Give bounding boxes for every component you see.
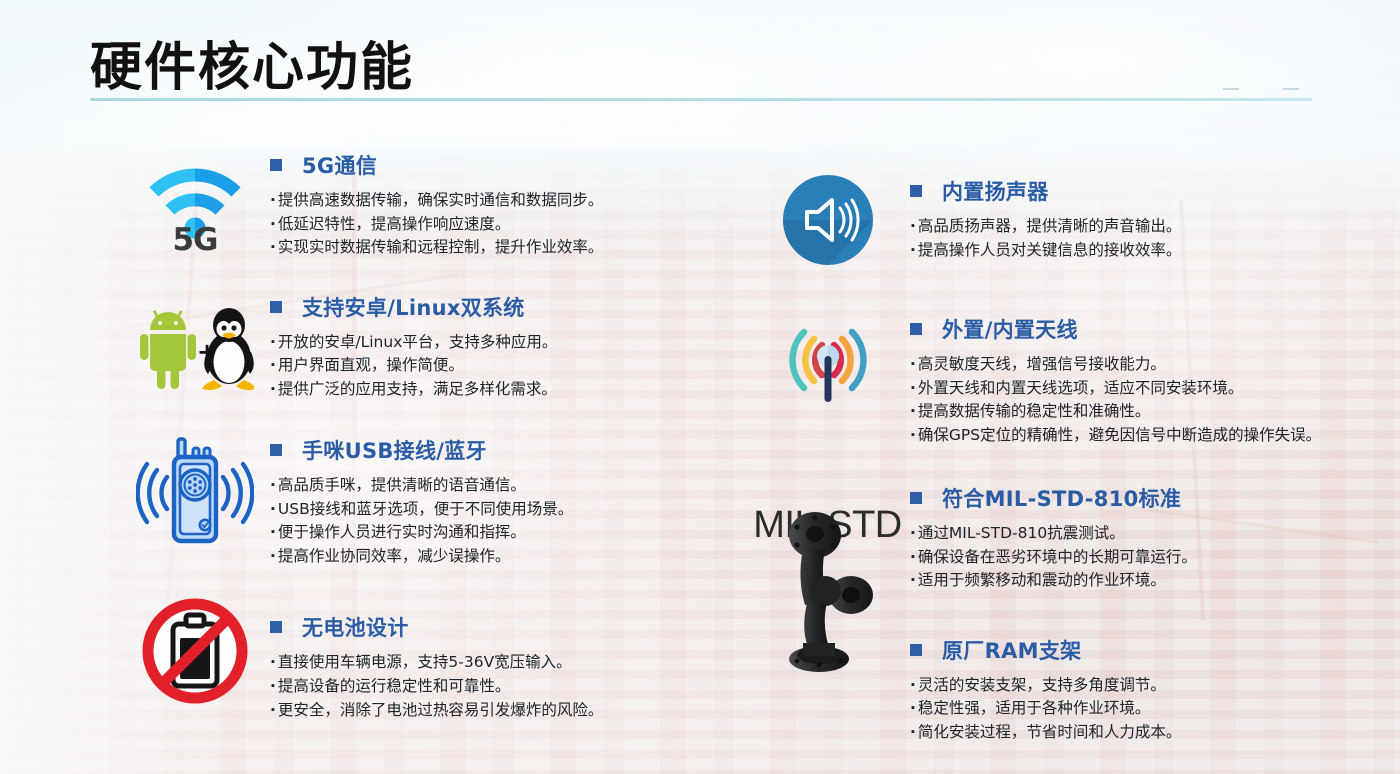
- feature-heading-row: 外置/内置天线: [910, 314, 1365, 344]
- list-item: USB接线和蓝牙选项，便于不同使用场景。: [270, 498, 680, 522]
- feature-icon-slot: [745, 150, 910, 268]
- list-item: 确保设备在恶劣环境中的长期可靠运行。: [910, 546, 1365, 570]
- list-item: 高灵敏度天线，增强信号接收能力。: [910, 353, 1365, 377]
- slide-header: 硬件核心功能: [0, 0, 1400, 118]
- feature-item-no-battery: 无电池设计 直接使用车辆电源，支持5-36V宽压输入。 提高设备的运行稳定性和可…: [120, 596, 680, 722]
- 5g-wifi-icon: 5G: [143, 154, 247, 258]
- bullet-square-icon: [270, 159, 282, 171]
- feature-text-block: 手咪USB接线/蓝牙 高品质手咪，提供清晰的语音通信。 USB接线和蓝牙选项，便…: [270, 435, 680, 568]
- android-linux-icon: +: [136, 294, 254, 398]
- feature-bullet-list: 高灵敏度天线，增强信号接收能力。 外置天线和内置天线选项，适应不同安装环境。 提…: [910, 353, 1365, 447]
- feature-bullet-list: 通过MIL-STD-810抗震测试。 确保设备在恶劣环境中的长期可靠运行。 适用…: [910, 522, 1365, 593]
- list-item: 直接使用车辆电源，支持5-36V宽压输入。: [270, 651, 680, 675]
- bullet-square-icon: [910, 644, 922, 656]
- list-item: 确保GPS定位的精确性，避免因信号中断造成的操作失误。: [910, 424, 1340, 448]
- feature-heading-row: 原厂RAM支架: [910, 635, 1365, 665]
- feature-heading-row: 支持安卓/Linux双系统: [270, 292, 680, 322]
- 5g-icon-label: 5G: [143, 222, 247, 258]
- bullet-square-icon: [270, 301, 282, 313]
- list-item: 开放的安卓/Linux平台，支持多种应用。: [270, 331, 680, 355]
- feature-text-block: 5G通信 提供高速数据传输，确保实时通信和数据同步。 低延迟特性，提高操作响应速…: [270, 150, 680, 260]
- feature-icon-slot: +: [120, 292, 270, 398]
- walkie-talkie-icon: [136, 437, 254, 545]
- feature-text-block: 外置/内置天线 高灵敏度天线，增强信号接收能力。 外置天线和内置天线选项，适应不…: [910, 308, 1365, 447]
- feature-icon-slot: [120, 435, 270, 545]
- list-item: 稳定性强，适用于各种作业环境。: [910, 697, 1365, 721]
- feature-item-5g: 5G 5G通信 提供高速数据传输，确保实时通信和数据同步。 低延迟特性，提高操作…: [120, 150, 680, 260]
- list-item: 低延迟特性，提高操作响应速度。: [270, 213, 680, 237]
- list-item: 提高作业协同效率，减少误操作。: [270, 545, 680, 569]
- speaker-icon: [780, 172, 876, 268]
- bullet-square-icon: [270, 444, 282, 456]
- feature-text-block: 无电池设计 直接使用车辆电源，支持5-36V宽压输入。 提高设备的运行稳定性和可…: [270, 596, 680, 722]
- page-title: 硬件核心功能: [90, 25, 414, 100]
- bullet-square-icon: [910, 492, 922, 504]
- list-item: 外置天线和内置天线选项，适应不同安装环境。: [910, 377, 1365, 401]
- list-item: 灵活的安装支架，支持多角度调节。: [910, 674, 1365, 698]
- list-item: 通过MIL-STD-810抗震测试。: [910, 522, 1365, 546]
- divider-tick: [1283, 88, 1299, 90]
- feature-icon-slot: [120, 596, 270, 706]
- feature-item-dual-os: + 支持安卓/Linux双系统 开放的安卓/Linux平台，支持多种应用。 用户…: [120, 292, 680, 402]
- list-item: 高品质手咪，提供清晰的语音通信。: [270, 474, 680, 498]
- title-divider: [90, 98, 1312, 101]
- feature-title: 支持安卓/Linux双系统: [302, 292, 525, 322]
- feature-bullet-list: 直接使用车辆电源，支持5-36V宽压输入。 提高设备的运行稳定性和可靠性。 更安…: [270, 651, 680, 722]
- android-robot: [140, 309, 196, 388]
- feature-item-handmic: 手咪USB接线/蓝牙 高品质手咪，提供清晰的语音通信。 USB接线和蓝牙选项，便…: [120, 435, 680, 568]
- feature-bullet-list: 高品质手咪，提供清晰的语音通信。 USB接线和蓝牙选项，便于不同使用场景。 便于…: [270, 474, 680, 568]
- feature-icon-slot: [745, 629, 910, 681]
- list-item: 高品质扬声器，提供清晰的声音输出。: [910, 215, 1365, 239]
- feature-title: 5G通信: [302, 150, 377, 180]
- plus-icon: +: [197, 338, 217, 366]
- list-item: 提供广泛的应用支持，满足多样化需求。: [270, 378, 680, 402]
- list-item: 简化安装过程，节省时间和人力成本。: [910, 721, 1365, 745]
- feature-title: 外置/内置天线: [942, 314, 1078, 344]
- feature-title: 手咪USB接线/蓝牙: [302, 435, 487, 465]
- feature-bullet-list: 开放的安卓/Linux平台，支持多种应用。 用户界面直观，操作简便。 提供广泛的…: [270, 331, 680, 402]
- list-item: 提高设备的运行稳定性和可靠性。: [270, 675, 680, 699]
- list-item: 实现实时数据传输和远程控制，提升作业效率。: [270, 236, 680, 260]
- feature-column-right: 内置扬声器 高品质扬声器，提供清晰的声音输出。 提高操作人员对关键信息的接收效率…: [745, 150, 1365, 744]
- slide-root: 硬件核心功能: [0, 0, 1400, 774]
- list-item: 便于操作人员进行实时沟通和指挥。: [270, 521, 680, 545]
- no-battery-icon: [140, 596, 250, 706]
- feature-icon-slot: 5G: [120, 150, 270, 258]
- feature-title: 符合MIL-STD-810标准: [942, 483, 1181, 513]
- list-item: 提高数据传输的稳定性和准确性。: [910, 400, 1365, 424]
- feature-title: 内置扬声器: [942, 176, 1049, 206]
- bullet-square-icon: [270, 621, 282, 633]
- feature-item-ram-mount: 原厂RAM支架 灵活的安装支架，支持多角度调节。 稳定性强，适用于各种作业环境。…: [745, 629, 1365, 745]
- feature-heading-row: 手咪USB接线/蓝牙: [270, 435, 680, 465]
- feature-bullet-list: 高品质扬声器，提供清晰的声音输出。 提高操作人员对关键信息的接收效率。: [910, 215, 1365, 262]
- feature-heading-row: 5G通信: [270, 150, 680, 180]
- bullet-square-icon: [910, 323, 922, 335]
- feature-title: 无电池设计: [302, 612, 409, 642]
- feature-item-speaker: 内置扬声器 高品质扬声器，提供清晰的声音输出。 提高操作人员对关键信息的接收效率…: [745, 150, 1365, 268]
- feature-text-block: 符合MIL-STD-810标准 通过MIL-STD-810抗震测试。 确保设备在…: [910, 481, 1365, 593]
- feature-heading-row: 无电池设计: [270, 612, 680, 642]
- ram-mount-icon: [763, 511, 893, 681]
- list-item: 用户界面直观，操作简便。: [270, 354, 680, 378]
- feature-bullet-list: 灵活的安装支架，支持多角度调节。 稳定性强，适用于各种作业环境。 简化安装过程，…: [910, 674, 1365, 745]
- list-item: 提供高速数据传输，确保实时通信和数据同步。: [270, 189, 680, 213]
- divider-tick: [1223, 88, 1239, 90]
- feature-text-block: 内置扬声器 高品质扬声器，提供清晰的声音输出。 提高操作人员对关键信息的接收效率…: [910, 150, 1365, 262]
- feature-heading-row: 符合MIL-STD-810标准: [910, 483, 1365, 513]
- feature-text-block: 支持安卓/Linux双系统 开放的安卓/Linux平台，支持多种应用。 用户界面…: [270, 292, 680, 402]
- feature-bullet-list: 提供高速数据传输，确保实时通信和数据同步。 低延迟特性，提高操作响应速度。 实现…: [270, 189, 680, 260]
- feature-title: 原厂RAM支架: [942, 635, 1081, 665]
- feature-column-left: 5G 5G通信 提供高速数据传输，确保实时通信和数据同步。 低延迟特性，提高操作…: [120, 150, 680, 722]
- feature-heading-row: 内置扬声器: [910, 176, 1365, 206]
- feature-icon-slot: [745, 308, 910, 414]
- bullet-square-icon: [910, 185, 922, 197]
- feature-text-block: 原厂RAM支架 灵活的安装支架，支持多角度调节。 稳定性强，适用于各种作业环境。…: [910, 629, 1365, 745]
- list-item: 适用于频繁移动和震动的作业环境。: [910, 569, 1365, 593]
- list-item: 更安全，消除了电池过热容易引发爆炸的风险。: [270, 699, 680, 723]
- antenna-icon: [774, 318, 882, 414]
- list-item: 提高操作人员对关键信息的接收效率。: [910, 239, 1365, 263]
- feature-item-antenna: 外置/内置天线 高灵敏度天线，增强信号接收能力。 外置天线和内置天线选项，适应不…: [745, 308, 1365, 447]
